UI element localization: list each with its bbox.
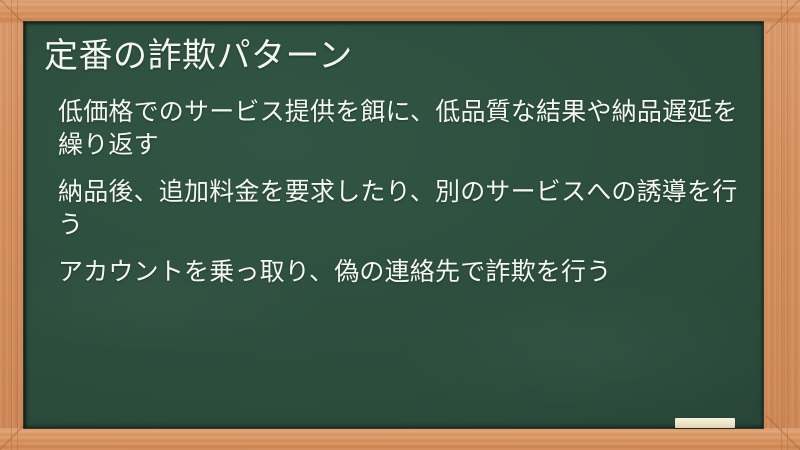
frame-grain-seam-right bbox=[787, 0, 788, 450]
frame-rail-bottom bbox=[0, 428, 800, 450]
chalkboard-surface: 定番の詐欺パターン 低価格でのサービス提供を餌に、低品質な結果や納品遅延を繰り返… bbox=[24, 22, 763, 428]
frame-rail-top bbox=[0, 0, 800, 23]
frame-grain-seam-left bbox=[11, 0, 12, 450]
bullet-item-3: アカウントを乗っ取り、偽の連絡先で詐欺を行う bbox=[58, 256, 743, 289]
bullet-item-1: 低価格でのサービス提供を餌に、低品質な結果や納品遅延を繰り返す bbox=[58, 96, 743, 162]
chalk-stick-icon bbox=[675, 418, 735, 428]
slide-title: 定番の詐欺パターン bbox=[36, 36, 743, 76]
bullet-item-2: 納品後、追加料金を要求したり、別のサービスへの誘導を行う bbox=[58, 176, 743, 242]
frame-grain-seam-left-2 bbox=[17, 0, 18, 450]
frame-grain-seam-right-2 bbox=[781, 0, 782, 450]
board-content: 定番の詐欺パターン 低価格でのサービス提供を餌に、低品質な結果や納品遅延を繰り返… bbox=[24, 22, 763, 428]
chalkboard-slide: 定番の詐欺パターン 低価格でのサービス提供を餌に、低品質な結果や納品遅延を繰り返… bbox=[0, 0, 800, 450]
bullet-list: 低価格でのサービス提供を餌に、低品質な結果や納品遅延を繰り返す 納品後、追加料金… bbox=[36, 96, 743, 289]
